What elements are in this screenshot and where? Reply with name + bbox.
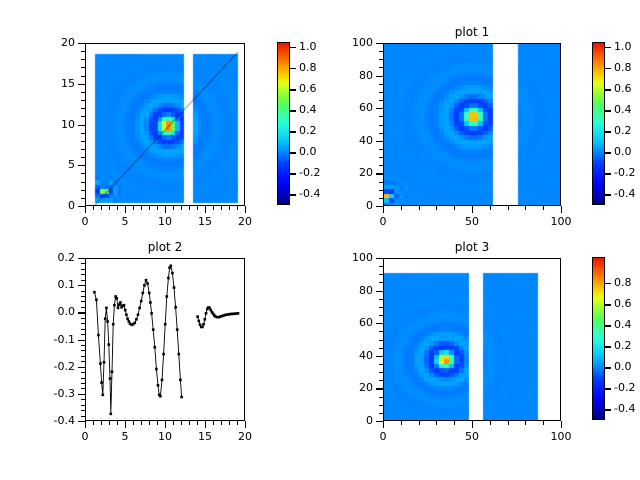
minor-tick-x [436,421,437,425]
major-tick-x [383,421,384,428]
plot-bottom-right-colorbar-tick [605,283,611,284]
major-tick-y [376,356,383,357]
plot-bottom-right-colorbar[interactable] [592,257,605,420]
plot-bottom-right-colorbar-label: 0.0 [614,362,632,372]
x-tick-label: 50 [447,432,497,442]
minor-tick-y [379,380,383,381]
major-tick-y [376,323,383,324]
minor-tick-y [379,413,383,414]
y-tick-label: 0 [321,416,373,426]
y-tick-label: 80 [321,286,373,296]
plot-bottom-right-heatmap [384,259,561,421]
x-tick-label: 100 [536,432,586,442]
plot-bottom-right-colorbar-tick [605,388,611,389]
minor-tick-x [419,421,420,425]
plot-frame[interactable] [383,258,561,421]
major-tick-y [376,291,383,292]
plot-bottom-right-colorbar-label: 0.4 [614,320,632,330]
plot-bottom-right-colorbar-label: 0.2 [614,341,632,351]
plot-bottom-right-colorbar-tick [605,325,611,326]
major-tick-y [376,258,383,259]
minor-tick-y [379,348,383,349]
minor-tick-y [379,364,383,365]
minor-tick-x [454,421,455,425]
plot-bottom-right-colorbar-tick [605,346,611,347]
plot-bottom-right-colorbar-tick [605,409,611,410]
major-tick-y [376,421,383,422]
minor-tick-y [379,315,383,316]
panel-title: plot 3 [383,241,561,253]
minor-tick-x [525,421,526,425]
minor-tick-y [379,266,383,267]
minor-tick-y [379,340,383,341]
plot-bottom-right-colorbar-tick [605,304,611,305]
plot-bottom-right-colorbar-label: -0.2 [614,383,635,393]
figure-canvas: 05101520051015201.00.80.60.40.20.0-0.2-0… [0,0,640,480]
minor-tick-x [490,421,491,425]
y-tick-label: 40 [321,351,373,361]
minor-tick-y [379,372,383,373]
minor-tick-y [379,397,383,398]
major-tick-y [376,388,383,389]
minor-tick-y [379,331,383,332]
plot-bottom-right-colorbar-label: 0.6 [614,299,632,309]
minor-tick-x [401,421,402,425]
minor-tick-y [379,405,383,406]
major-tick-x [472,421,473,428]
minor-tick-y [379,274,383,275]
plot-bottom-right-colorbar-label: -0.4 [614,404,635,414]
minor-tick-y [379,282,383,283]
x-tick-label: 0 [358,432,408,442]
major-tick-x [561,421,562,428]
plot-bottom-right-colorbar-label: 0.8 [614,278,632,288]
minor-tick-y [379,307,383,308]
minor-tick-x [508,421,509,425]
minor-tick-y [379,299,383,300]
y-tick-label: 20 [321,383,373,393]
minor-tick-x [543,421,544,425]
y-tick-label: 60 [321,318,373,328]
plot-bottom-right-colorbar-tick [605,367,611,368]
y-tick-label: 100 [321,253,373,263]
panel-plot-bottom-right: plot 30501000204060801000.80.60.40.20.0-… [0,0,640,480]
